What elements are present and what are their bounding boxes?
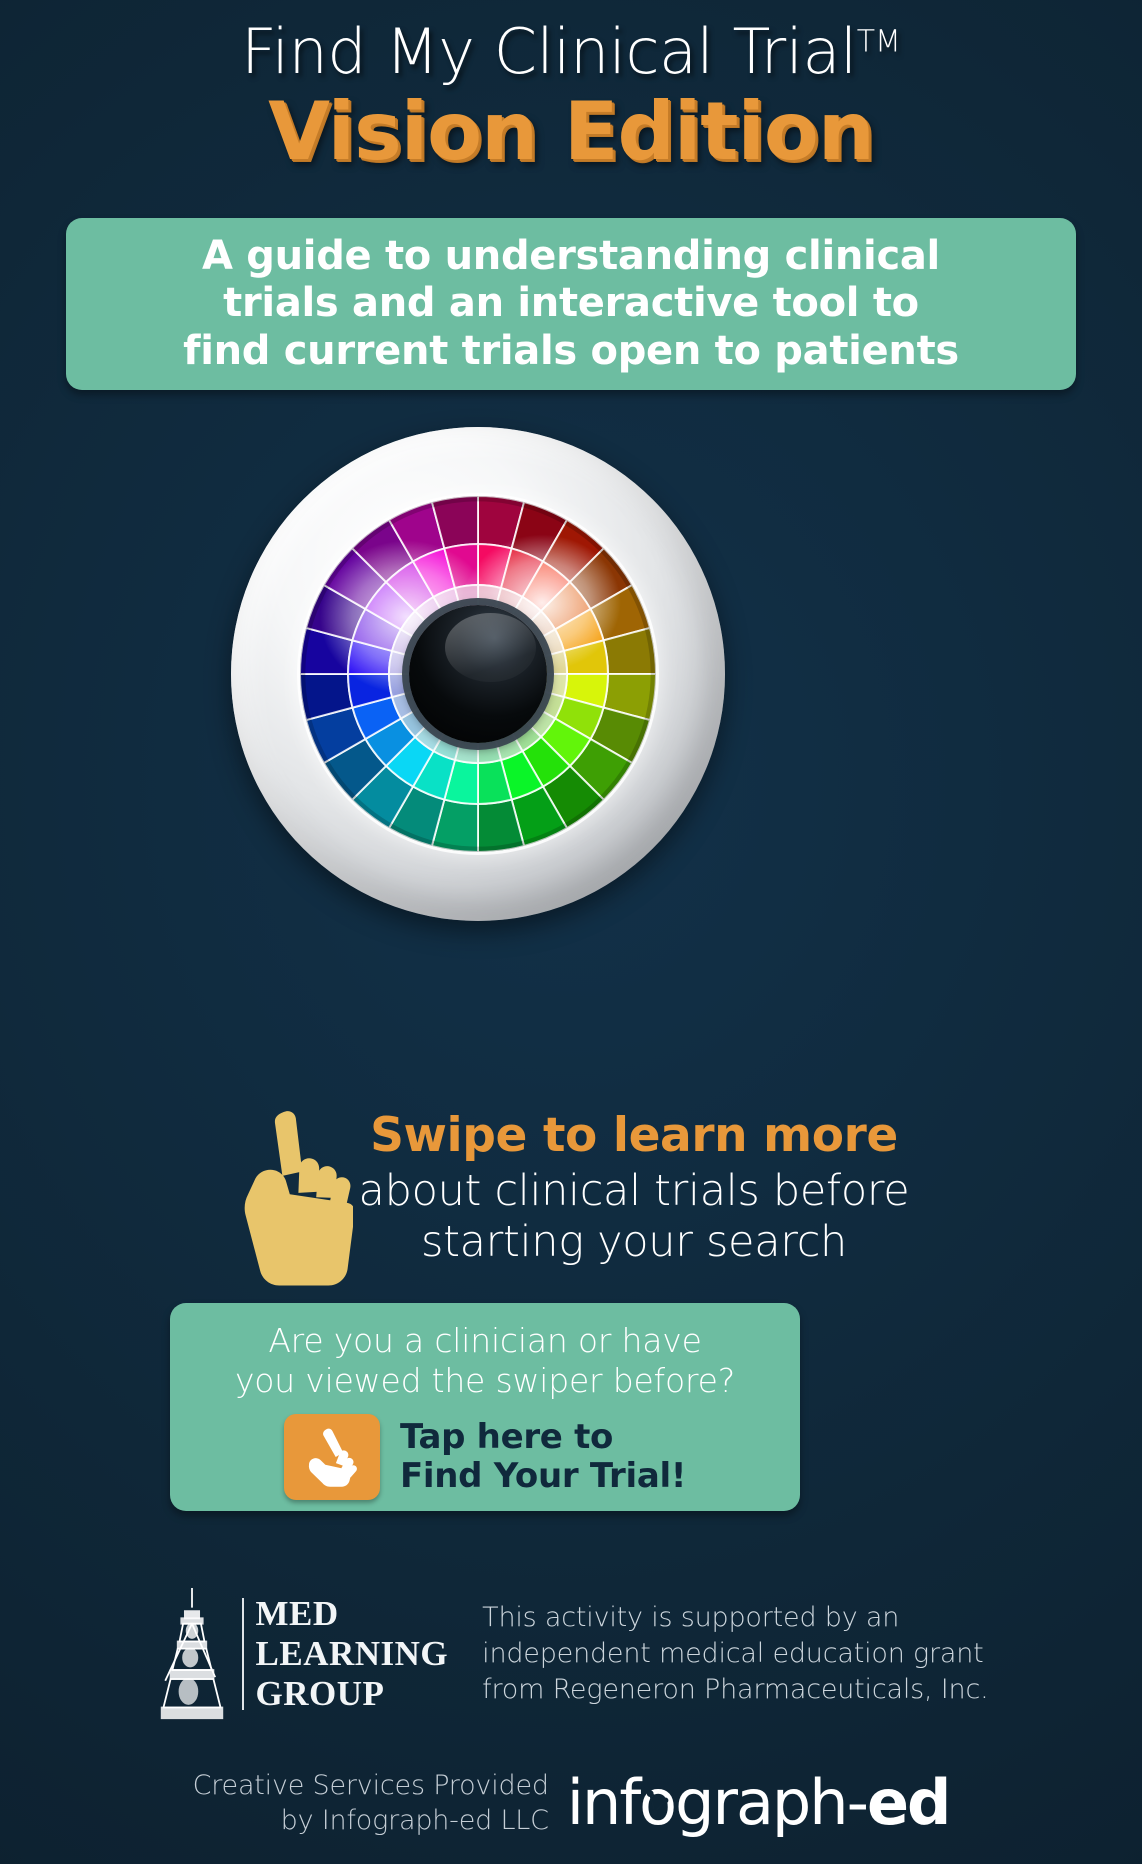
credit-row: Creative Services Provided by Infograph-…	[0, 1768, 1142, 1838]
logo-word-2: LEARNING	[256, 1634, 449, 1674]
title-primary-text: Find My Clinical Trial	[241, 15, 857, 88]
tapping-hand-icon	[306, 1427, 358, 1487]
logo-word-1: MED	[256, 1594, 449, 1634]
page-title: Find My Clinical TrialTM Vision Edition	[0, 0, 1142, 172]
cta-question: Are you a clinician or have you viewed t…	[186, 1321, 784, 1400]
banner-line-2: trials and an interactive tool to	[183, 280, 959, 327]
med-learning-group-logo: MED LEARNING GROUP	[154, 1588, 449, 1720]
eye-pupil	[409, 605, 547, 743]
tap-here-button[interactable]	[284, 1414, 380, 1500]
cta-question-line-2: you viewed the swiper before?	[186, 1361, 784, 1401]
med-learning-group-steeple-icon	[154, 1588, 230, 1720]
swipe-text-block: Swipe to learn more about clinical trial…	[359, 1095, 910, 1268]
title-subtitle: Vision Edition	[0, 92, 1142, 172]
title-primary: Find My Clinical TrialTM	[0, 18, 1142, 86]
grant-line-2: independent medical education grant	[482, 1636, 988, 1672]
credit-line-1: Creative Services Provided	[193, 1768, 549, 1803]
logo-divider	[242, 1598, 244, 1710]
supporter-row: MED LEARNING GROUP This activity is supp…	[0, 1588, 1142, 1720]
eye-color-wheel-icon	[231, 427, 725, 921]
trademark-symbol: TM	[857, 24, 901, 59]
grant-line-1: This activity is supported by an	[482, 1600, 988, 1636]
pointing-up-hand-icon	[233, 1105, 353, 1290]
med-learning-group-wordmark: MED LEARNING GROUP	[256, 1594, 449, 1714]
swipe-body: about clinical trials before starting yo…	[359, 1166, 910, 1267]
infograph-ed-logo: inf o graph- ed	[567, 1772, 950, 1834]
logo-word-3: GROUP	[256, 1674, 449, 1714]
cta-action-row[interactable]: Tap here to Find Your Trial!	[186, 1414, 784, 1500]
swipe-instruction: Swipe to learn more about clinical trial…	[0, 1095, 1142, 1290]
network-node-icon	[640, 1786, 674, 1820]
cta-label-line-1: Tap here to	[400, 1418, 686, 1457]
banner-line-1: A guide to understanding clinical	[183, 233, 959, 280]
cta-label: Tap here to Find Your Trial!	[400, 1418, 686, 1497]
find-your-trial-card[interactable]: Are you a clinician or have you viewed t…	[170, 1303, 800, 1511]
swipe-headline: Swipe to learn more	[359, 1111, 910, 1160]
brand-part-2: graph-	[675, 1772, 867, 1834]
grant-statement: This activity is supported by an indepen…	[482, 1600, 988, 1708]
brand-part-3: ed	[867, 1772, 949, 1834]
cta-label-line-2: Find Your Trial!	[400, 1457, 686, 1496]
banner-line-3: find current trials open to patients	[183, 328, 959, 375]
credit-line-2: by Infograph-ed LLC	[193, 1803, 549, 1838]
swipe-body-line-1: about clinical trials before	[359, 1166, 910, 1217]
description-banner-text: A guide to understanding clinical trials…	[183, 233, 959, 375]
grant-line-3: from Regeneron Pharmaceuticals, Inc.	[482, 1672, 988, 1708]
cta-question-line-1: Are you a clinician or have	[186, 1321, 784, 1361]
brand-node-o: o	[639, 1772, 675, 1834]
credit-text: Creative Services Provided by Infograph-…	[193, 1768, 549, 1838]
brand-part-1: inf	[567, 1772, 639, 1834]
description-banner: A guide to understanding clinical trials…	[66, 218, 1076, 390]
swipe-body-line-2: starting your search	[359, 1217, 910, 1268]
